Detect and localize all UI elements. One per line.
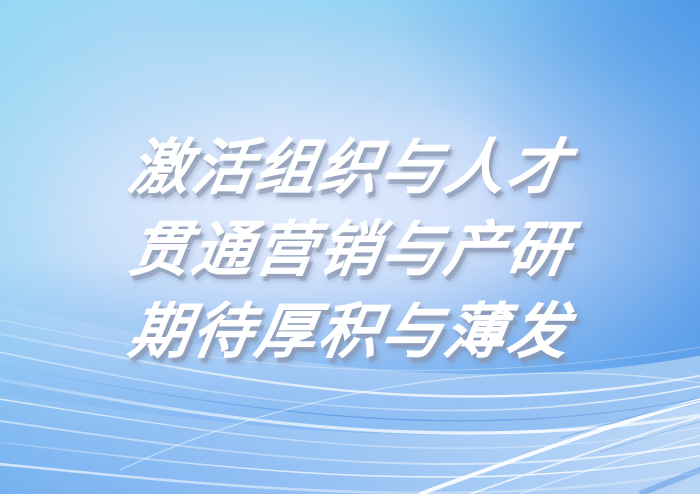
headline-block: 激活组织与人才 贯通营销与产研 期待厚积与薄发 bbox=[0, 0, 700, 494]
headline-line-1: 激活组织与人才 bbox=[125, 138, 576, 198]
slogan-banner: 激活组织与人才 贯通营销与产研 期待厚积与薄发 bbox=[0, 0, 700, 494]
headline-line-3: 期待厚积与薄发 bbox=[125, 302, 576, 362]
headline-line-2: 贯通营销与产研 bbox=[125, 220, 576, 280]
